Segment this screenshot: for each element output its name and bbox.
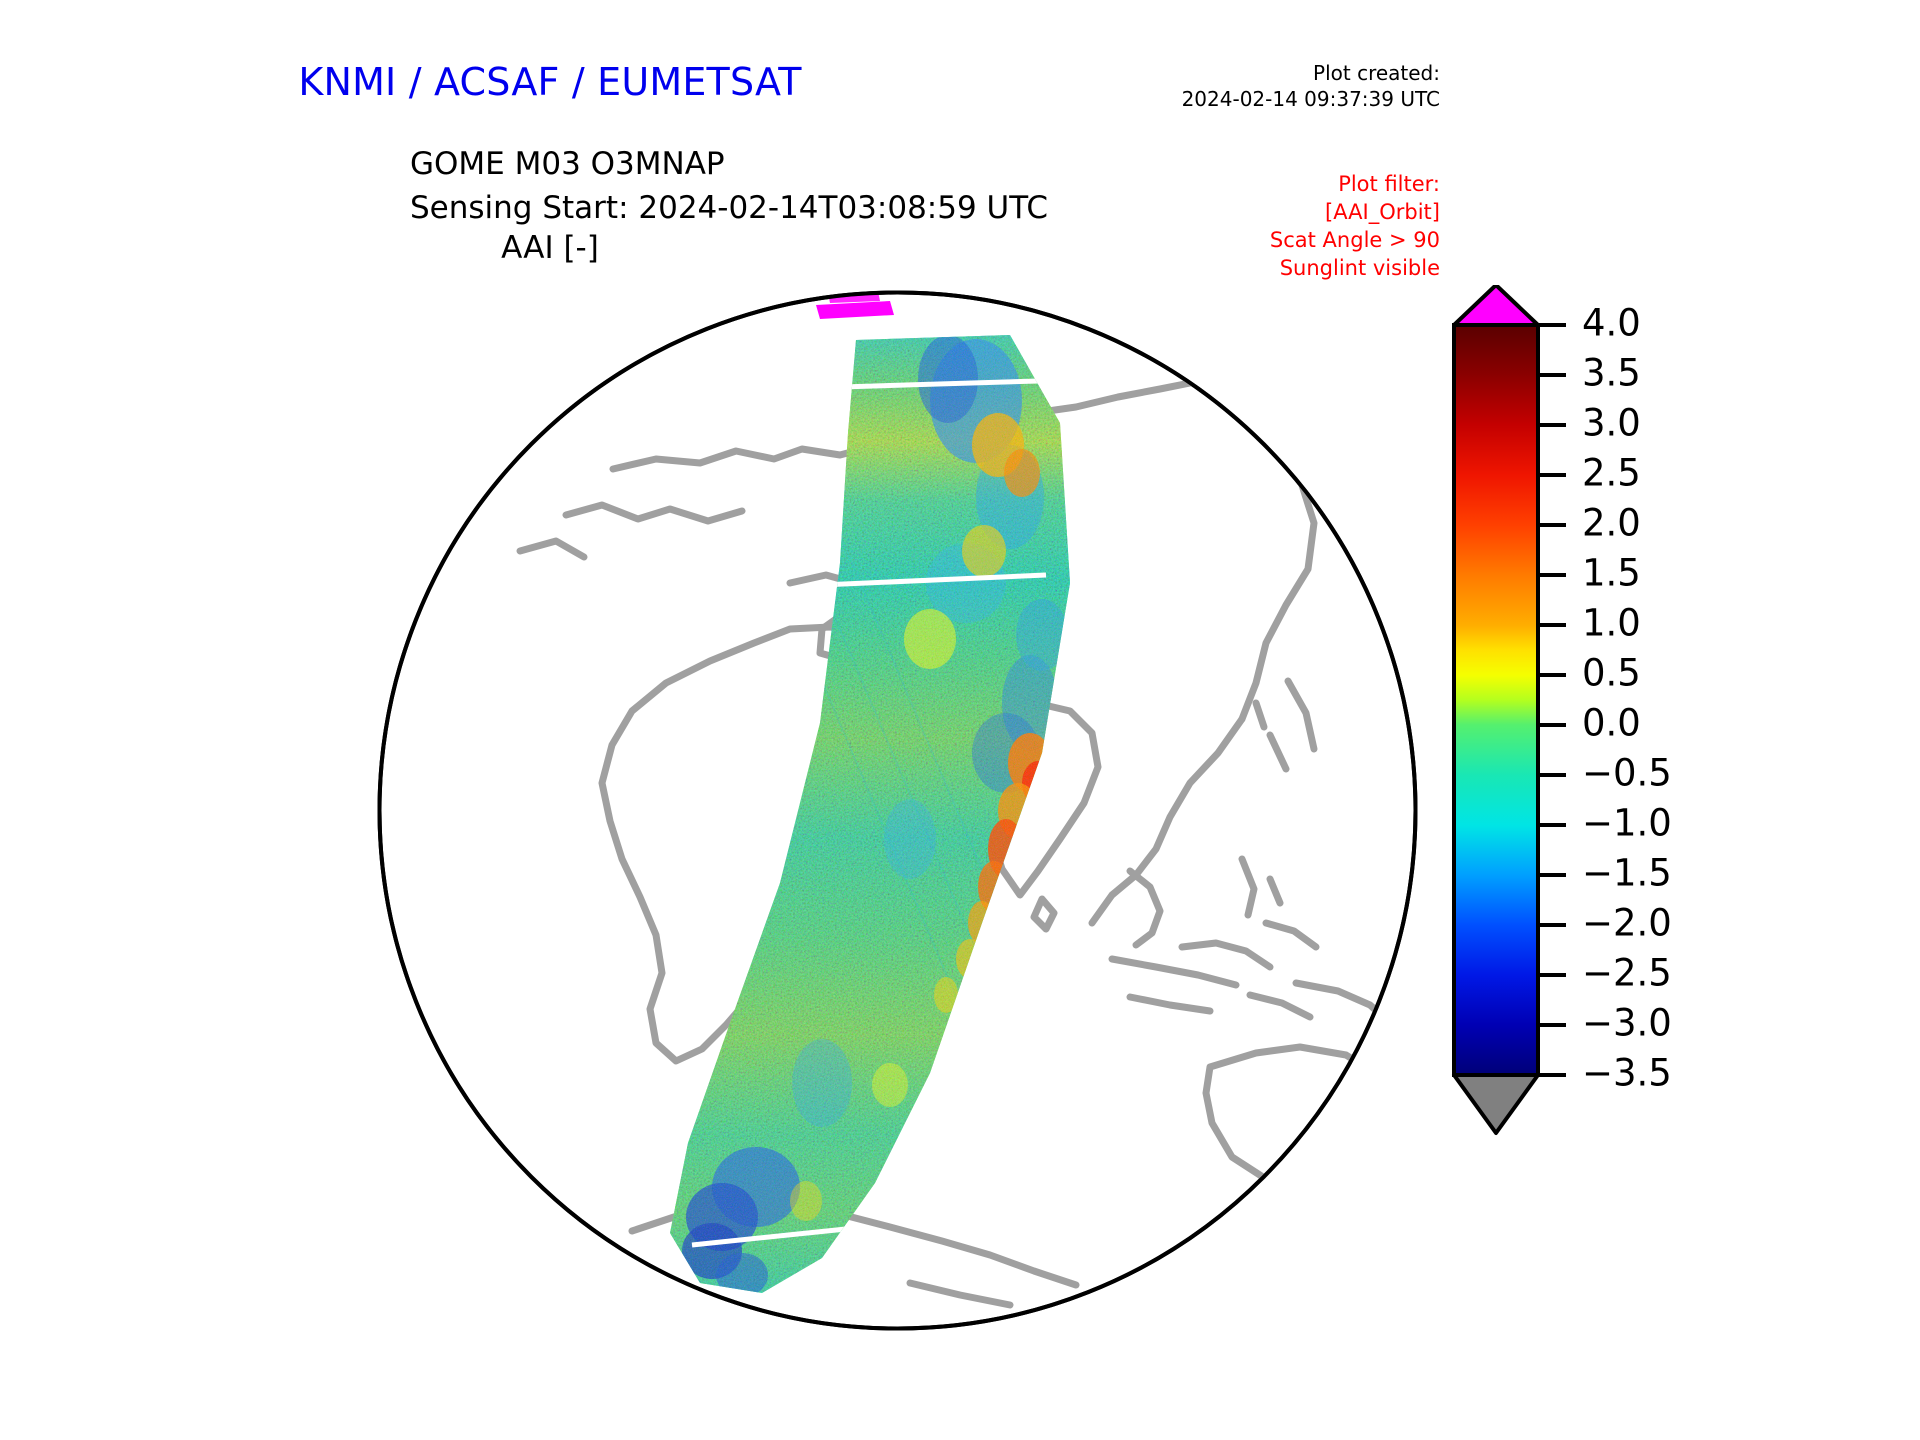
plot-created-timestamp: 2024-02-14 09:37:39 UTC <box>1000 86 1440 112</box>
filter-orbit: [AAI_Orbit] <box>1000 198 1440 226</box>
colorbar-tick-label: 1.0 <box>1582 602 1641 645</box>
colorbar-tick-label: 0.5 <box>1582 652 1641 695</box>
colorbar-tick-label: −3.0 <box>1582 1002 1672 1045</box>
colorbar-tick-label: −1.0 <box>1582 802 1672 845</box>
organisation-title: KNMI / ACSAF / EUMETSAT <box>0 60 1100 104</box>
colorbar-tick-labels: 4.0 3.5 3.0 2.5 2.0 1.5 1.0 0.5 0.0 −0.5… <box>1582 302 1672 1095</box>
plot-created-block: Plot created: 2024-02-14 09:37:39 UTC <box>1000 60 1440 112</box>
colorbar-tick-label: 0.0 <box>1582 702 1641 745</box>
colorbar-tick-label: −1.5 <box>1582 852 1672 895</box>
colorbar-tick-label: 2.0 <box>1582 502 1641 545</box>
colorbar-under-arrow <box>1454 1075 1538 1133</box>
colorbar-tick-label: −2.5 <box>1582 952 1672 995</box>
variable-title: AAI [-] <box>0 230 1100 266</box>
colorbar-gradient <box>1454 325 1538 1075</box>
colorbar-tick-label: 4.0 <box>1582 302 1641 345</box>
colorbar-tick-label: 3.0 <box>1582 402 1641 445</box>
colorbar-tick-label: −0.5 <box>1582 752 1672 795</box>
globe-map <box>370 283 1425 1338</box>
plot-title-block: GOME M03 O3MNAP Sensing Start: 2024-02-1… <box>0 142 1100 230</box>
filter-sunglint: Sunglint visible <box>1000 254 1440 282</box>
colorbar-tick-label: −3.5 <box>1582 1052 1672 1095</box>
colorbar: 4.0 3.5 3.0 2.5 2.0 1.5 1.0 0.5 0.0 −0.5… <box>1440 285 1770 1340</box>
colorbar-tick-label: 1.5 <box>1582 552 1641 595</box>
colorbar-tick-label: 2.5 <box>1582 452 1641 495</box>
colorbar-ticks <box>1538 325 1566 1075</box>
plot-filter-block: Plot filter: [AAI_Orbit] Scat Angle > 90… <box>1000 170 1440 282</box>
colorbar-tick-label: −2.0 <box>1582 902 1672 945</box>
colorbar-tick-label: 3.5 <box>1582 352 1641 395</box>
sensing-start-title: Sensing Start: 2024-02-14T03:08:59 UTC <box>410 186 1100 230</box>
plot-created-label: Plot created: <box>1000 60 1440 86</box>
filter-scat-angle: Scat Angle > 90 <box>1000 226 1440 254</box>
instrument-title: GOME M03 O3MNAP <box>410 142 1100 186</box>
filter-label: Plot filter: <box>1000 170 1440 198</box>
colorbar-over-arrow <box>1454 285 1538 325</box>
